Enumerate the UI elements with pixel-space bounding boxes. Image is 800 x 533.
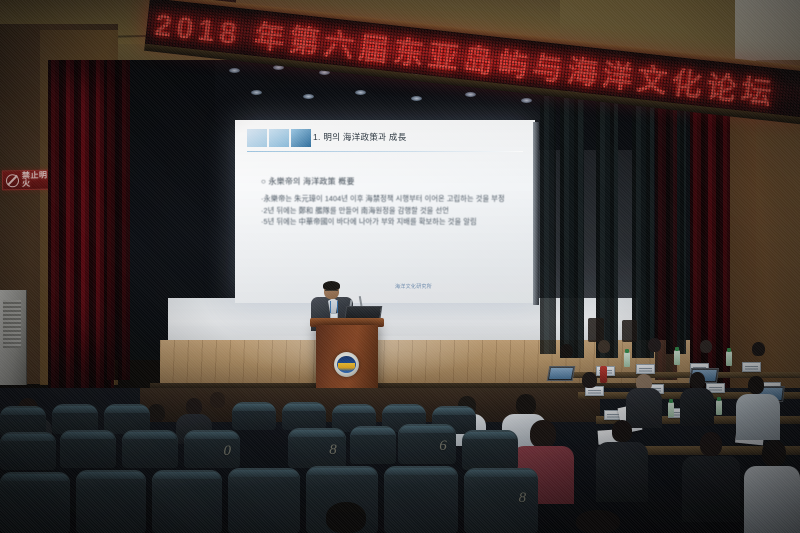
seat: 8 [464, 468, 538, 533]
delegate-head [752, 342, 765, 356]
delegate-body [626, 388, 662, 428]
delegate-head [598, 340, 610, 353]
seat [152, 470, 222, 533]
seat [350, 426, 396, 464]
delegate-name-card [636, 364, 655, 374]
speaker-hair [323, 281, 340, 290]
seat [0, 432, 56, 470]
delegate-name-card [742, 362, 761, 372]
seat [232, 402, 276, 430]
no-fire-label: 禁止明火 [22, 172, 48, 188]
laptop-screen [549, 368, 573, 379]
seat [122, 430, 178, 468]
seat [76, 470, 146, 533]
seat-number: 8 [329, 442, 337, 459]
seat [282, 402, 326, 430]
seat-number: 8 [519, 490, 527, 507]
wave-thumb-1-icon [247, 129, 267, 147]
delegate-head [648, 338, 661, 352]
slide-footer-logo: 海洋文化研究所 [395, 283, 432, 290]
delegate-head [700, 432, 722, 456]
no-open-flame-sign: 禁止明火 [2, 170, 52, 191]
seat: 0 [184, 430, 240, 468]
water-bottle [668, 402, 674, 417]
slide-body: ○ 永樂帝의 海洋政策 槪要 ·永樂帝는 朱元璋이 1404년 이후 海禁정책 … [261, 176, 511, 228]
delegate-head [560, 344, 573, 358]
air-conditioner-unit [0, 290, 27, 385]
slide-bullet: ·2년 뒤에는 鄭和 艦隊를 만들어 南海원정을 감행할 것을 선언 [261, 205, 511, 217]
audience-head [148, 404, 165, 422]
glasses-icon [325, 290, 338, 294]
water-bottle [726, 351, 732, 366]
seat [384, 466, 458, 533]
institute-seal-icon [334, 352, 359, 377]
slide-bullet: ·5년 뒤에는 中華帝國이 바다에 나아가 부와 지배를 확보하는 것을 알림 [261, 216, 511, 228]
seat [0, 472, 70, 533]
seat-number: 6 [439, 438, 447, 455]
delegate-body [736, 394, 780, 440]
seat-number: 0 [224, 443, 232, 460]
water-bottle [716, 400, 722, 415]
slide-bullet: ·永樂帝는 朱元璋이 1404년 이후 海禁정책 시행부터 이어온 고립하는 것… [261, 193, 511, 205]
delegate-head [582, 372, 597, 388]
slide-heading: ○ 永樂帝의 海洋政策 槪要 [261, 176, 511, 187]
seat [228, 468, 300, 533]
conference-hall-photo: 禁止明火 1. 明의 海洋政策과 成長 ○ 永樂帝의 海 [0, 0, 800, 533]
delegate-head [748, 376, 764, 394]
seat [462, 430, 518, 470]
delegate-head [612, 420, 632, 442]
delegate-body [682, 456, 740, 522]
delegate-laptop [547, 366, 576, 381]
delegate-body [596, 442, 648, 502]
seat [60, 430, 116, 468]
seat: 8 [288, 428, 346, 468]
delegate-body [680, 388, 714, 426]
audience-head-foreground [576, 510, 620, 533]
no-fire-icon [6, 174, 19, 187]
seat: 6 [398, 424, 456, 464]
wing-chair [622, 320, 637, 342]
delegate-body [744, 466, 800, 533]
audience-head-foreground [326, 502, 366, 533]
audience-head [210, 392, 225, 408]
thermos-flask [600, 366, 607, 383]
delegate-head [690, 372, 705, 389]
water-bottle [624, 352, 630, 367]
wing-chair [588, 318, 604, 342]
audience-head [186, 398, 202, 415]
audience-head [516, 394, 536, 415]
audience-head [530, 420, 556, 448]
delegate-head [762, 440, 786, 466]
delegate-head [700, 340, 712, 353]
water-bottle [674, 350, 680, 365]
stage-curtain-left-inner [104, 60, 130, 380]
